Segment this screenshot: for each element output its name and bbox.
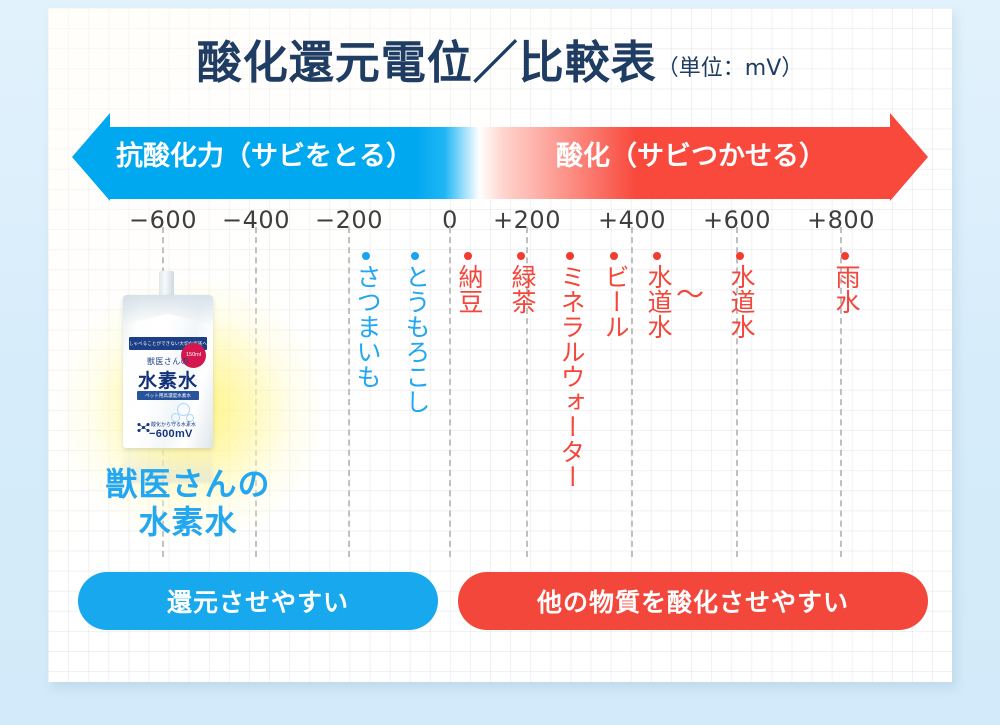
item-label-tap-water-1: 水道水 xyxy=(642,264,672,339)
marker-dot-natto xyxy=(464,252,472,260)
arrow-label-oxidation: 酸化（サビつかせる） xyxy=(556,140,826,174)
item-label-rainwater: 雨水 xyxy=(830,264,860,314)
page-background: 酸化還元電位／比較表（単位：mV） 抗酸化力（サビをとる） 酸化（サビつかせる）… xyxy=(0,0,1000,725)
pill-reduction: 還元させやすい xyxy=(78,572,438,630)
item-label-beer: ビール xyxy=(599,264,629,339)
gridline-plus400 xyxy=(631,227,633,557)
item-label-ryokucha: 緑茶 xyxy=(506,264,536,314)
marker-dot-mineral-water xyxy=(566,252,574,260)
range-tilde: 〜 xyxy=(676,273,704,313)
item-label-tap-water-2: 水道水 xyxy=(725,264,755,339)
pouch-body: しゃべることができない大切な家族へ 150ml 獣医さんの 水素水 ペット用高濃… xyxy=(123,295,213,448)
title-text: 酸化還元電位／比較表 xyxy=(197,36,657,89)
marker-dot-toumorokoshi xyxy=(411,252,419,260)
item-label-mineral-water: ミネラルウォーター xyxy=(555,264,585,489)
item-label-toumorokoshi: とうもろこし xyxy=(400,264,430,414)
pill-oxidation: 他の物質を酸化させやすい xyxy=(458,572,928,630)
page-title: 酸化還元電位／比較表（単位：mV） xyxy=(0,26,1000,91)
product-pouch-image: しゃべることができない大切な家族へ 150ml 獣医さんの 水素水 ペット用高濃… xyxy=(123,295,213,448)
title-unit: （単位：mV） xyxy=(657,56,803,81)
pouch-shoulder xyxy=(123,295,213,325)
pouch-tagline: ペット用高濃度水素水 xyxy=(137,391,199,400)
arrow-label-antioxidant: 抗酸化力（サビをとる） xyxy=(116,140,413,174)
marker-dot-tap-water-2 xyxy=(736,252,744,260)
item-label-satsumaimo: さつまいも xyxy=(351,264,381,389)
pouch-orp-value: −600mV xyxy=(149,428,193,440)
marker-dot-ryokucha xyxy=(517,252,525,260)
gridline-minus200 xyxy=(348,227,350,557)
marker-dot-satsumaimo xyxy=(362,252,370,260)
item-label-natto: 納豆 xyxy=(453,264,483,314)
marker-dot-beer xyxy=(610,252,618,260)
pouch-product-name: 水素水 xyxy=(123,366,213,393)
product-name-label: 獣医さんの 水素水 xyxy=(58,465,318,541)
pouch-caption: 酸化から守る水素水 xyxy=(151,421,196,428)
marker-dot-tap-water-1 xyxy=(653,252,661,260)
marker-dot-rainwater xyxy=(841,252,849,260)
gridline-zero xyxy=(449,227,451,557)
pouch-cap-icon xyxy=(159,271,174,297)
